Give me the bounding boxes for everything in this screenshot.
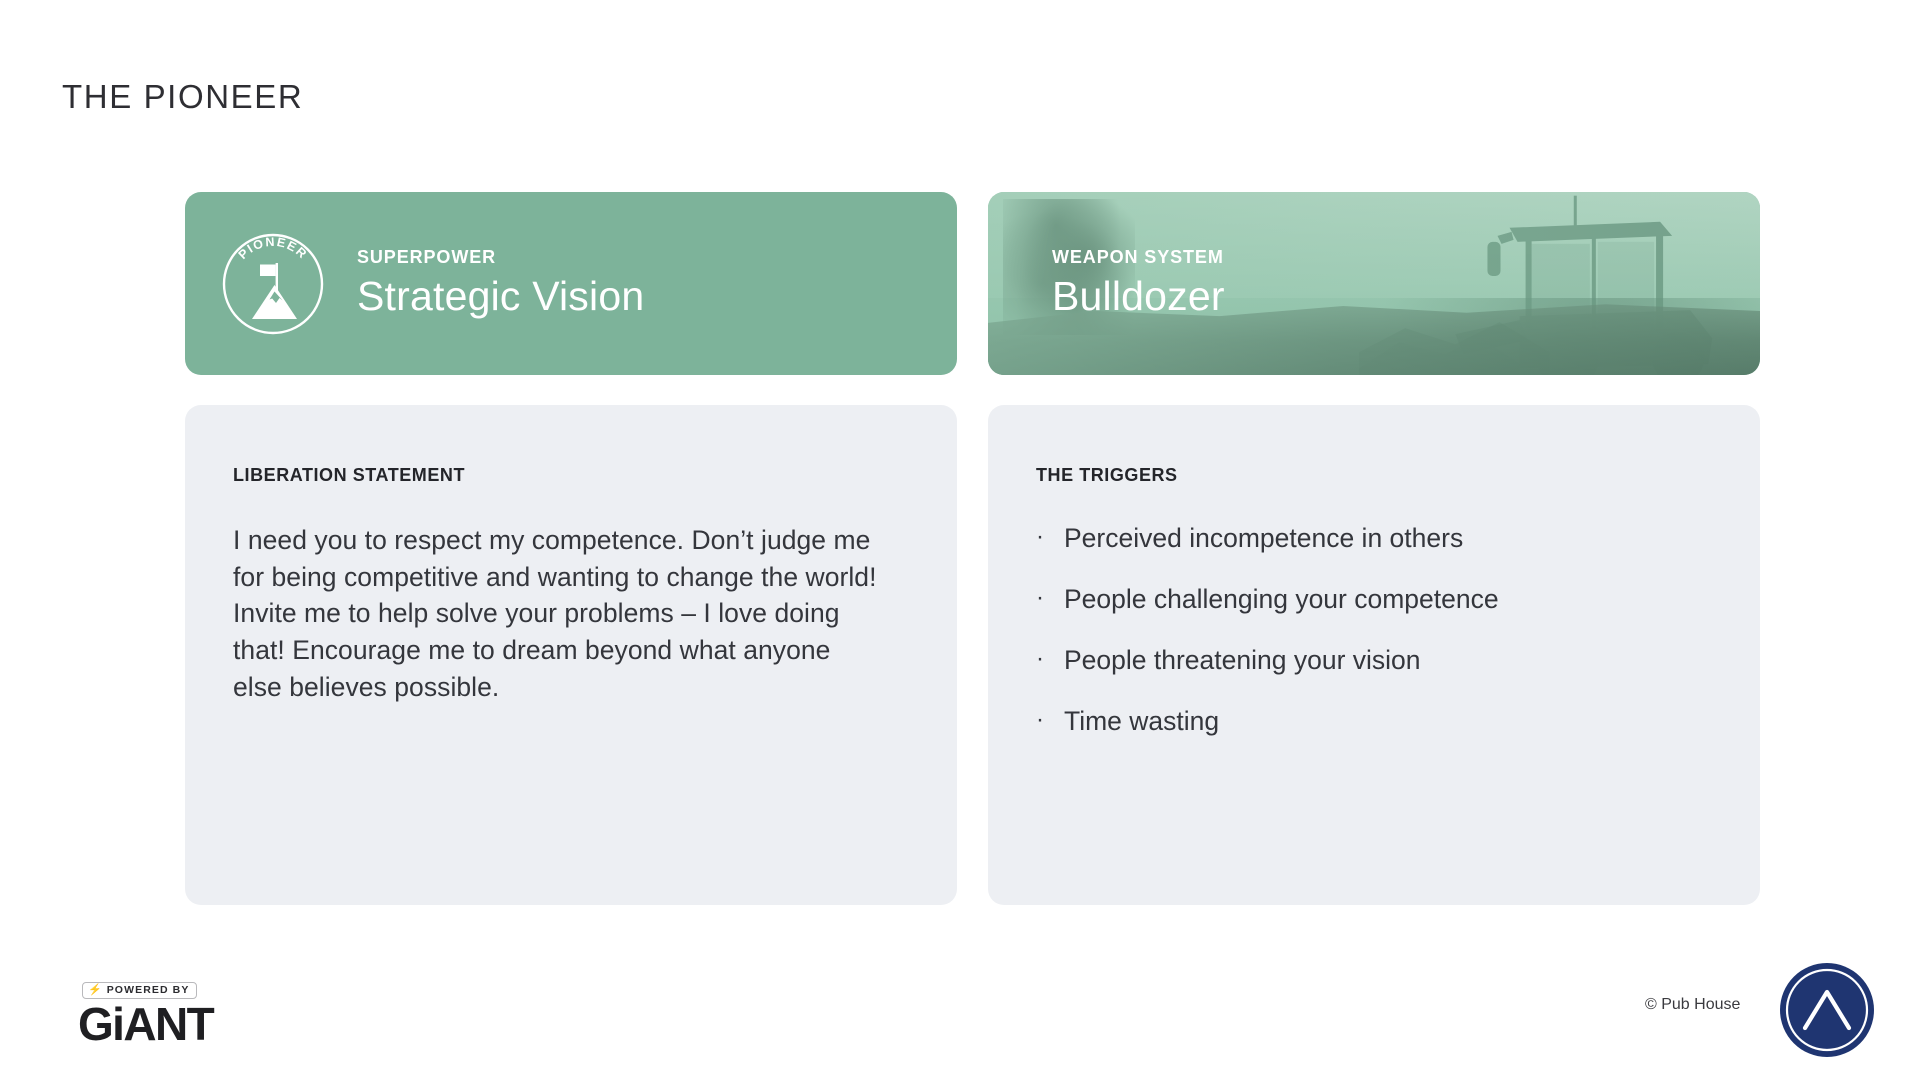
trigger-label: Time wasting [1064, 705, 1712, 738]
triggers-panel: THE TRIGGERS · Perceived incompetence in… [988, 405, 1760, 905]
page-title: THE PIONEER [62, 78, 303, 116]
superpower-card: PIONEER SUPERPOWER Strategic Vision [185, 192, 957, 375]
liberation-statement-heading: LIBERATION STATEMENT [233, 465, 909, 486]
weapon-kicker: WEAPON SYSTEM [1052, 247, 1225, 269]
liberation-statement-text: I need you to respect my competence. Don… [233, 522, 883, 705]
triggers-heading: THE TRIGGERS [1036, 465, 1712, 486]
list-item: · People threatening your vision [1036, 644, 1712, 677]
pub-house-logo-icon [1779, 962, 1875, 1058]
powered-by-badge: ⚡ POWERED BY [82, 982, 197, 999]
weapon-system-card: WEAPON SYSTEM Bulldozer [988, 192, 1760, 375]
bullet-icon: · [1036, 583, 1064, 613]
bullet-icon: · [1036, 705, 1064, 735]
liberation-statement-panel: LIBERATION STATEMENT I need you to respe… [185, 405, 957, 905]
copyright-text: © Pub House [1645, 996, 1740, 1014]
lightning-bolt-icon: ⚡ [88, 985, 102, 996]
list-item: · People challenging your competence [1036, 583, 1712, 616]
bullet-icon: · [1036, 522, 1064, 552]
list-item: · Perceived incompetence in others [1036, 522, 1712, 555]
pioneer-badge-icon: PIONEER [219, 230, 327, 338]
powered-by-label: POWERED BY [107, 985, 190, 996]
list-item: · Time wasting [1036, 705, 1712, 738]
triggers-list: · Perceived incompetence in others · Peo… [1036, 522, 1712, 739]
bullet-icon: · [1036, 644, 1064, 674]
trigger-label: People threatening your vision [1064, 644, 1712, 677]
svg-text:PIONEER: PIONEER [236, 234, 311, 261]
slide-canvas: THE PIONEER PIONEER [0, 0, 1920, 1080]
giant-brand-logo: ⚡ POWERED BY GiANT [78, 980, 278, 1047]
trigger-label: People challenging your competence [1064, 583, 1712, 616]
weapon-title: Bulldozer [1052, 273, 1225, 320]
superpower-title: Strategic Vision [357, 273, 644, 320]
giant-wordmark: GiANT [78, 1003, 278, 1047]
trigger-label: Perceived incompetence in others [1064, 522, 1712, 555]
superpower-kicker: SUPERPOWER [357, 247, 644, 269]
